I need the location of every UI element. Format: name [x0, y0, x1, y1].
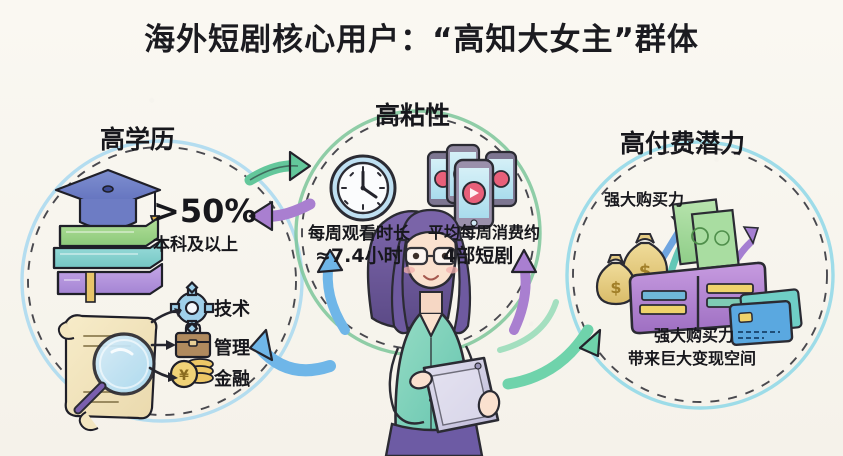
- cluster-label-education: 高学历: [100, 120, 175, 156]
- illustration-layer: ¥: [0, 0, 843, 456]
- field-label-tech: 技术: [214, 295, 250, 321]
- page-title-text: 海外短剧核心用户：“高知大女主”群体: [144, 22, 699, 58]
- gear-icon: [171, 283, 213, 334]
- infographic-canvas: ¥: [0, 0, 843, 456]
- page-title: 海外短剧核心用户：“高知大女主”群体: [0, 14, 843, 59]
- credit-card-icon: [730, 289, 802, 345]
- payment-top-caption: 强大购买力: [604, 186, 684, 210]
- metric-consumption-line2: 4部短剧: [443, 241, 513, 268]
- cluster-label-stickiness: 高粘性: [375, 96, 450, 132]
- arrow-center-up-right: [512, 250, 536, 330]
- clock-icon: [331, 156, 395, 220]
- arrow-center-right-green: [500, 302, 556, 350]
- metric-consumption-line1: 平均每周消费约: [428, 219, 540, 243]
- payment-bottom-caption-line1: 强大购买力: [654, 322, 734, 346]
- payment-bottom-caption-line2: 带来巨大变现空间: [628, 345, 756, 369]
- book-stack-icon: [54, 218, 162, 302]
- education-stat-value: >50%: [153, 192, 256, 230]
- cluster-label-payment: 高付费潜力: [620, 124, 745, 160]
- education-stat-caption: 本科及以上: [153, 230, 238, 255]
- graduation-cap-icon: [56, 170, 160, 229]
- coins-yen-icon: ¥: [171, 359, 213, 387]
- field-label-management: 管理: [214, 334, 250, 360]
- svg-text:¥: ¥: [179, 368, 189, 384]
- field-label-finance: 金融: [214, 365, 250, 391]
- metric-watchtime-line2: ≈7.4小时: [315, 241, 403, 268]
- arrow-center-to-pay: [508, 330, 600, 384]
- arrow-edu-to-sticky: [250, 152, 310, 180]
- svg-text:$: $: [610, 278, 621, 297]
